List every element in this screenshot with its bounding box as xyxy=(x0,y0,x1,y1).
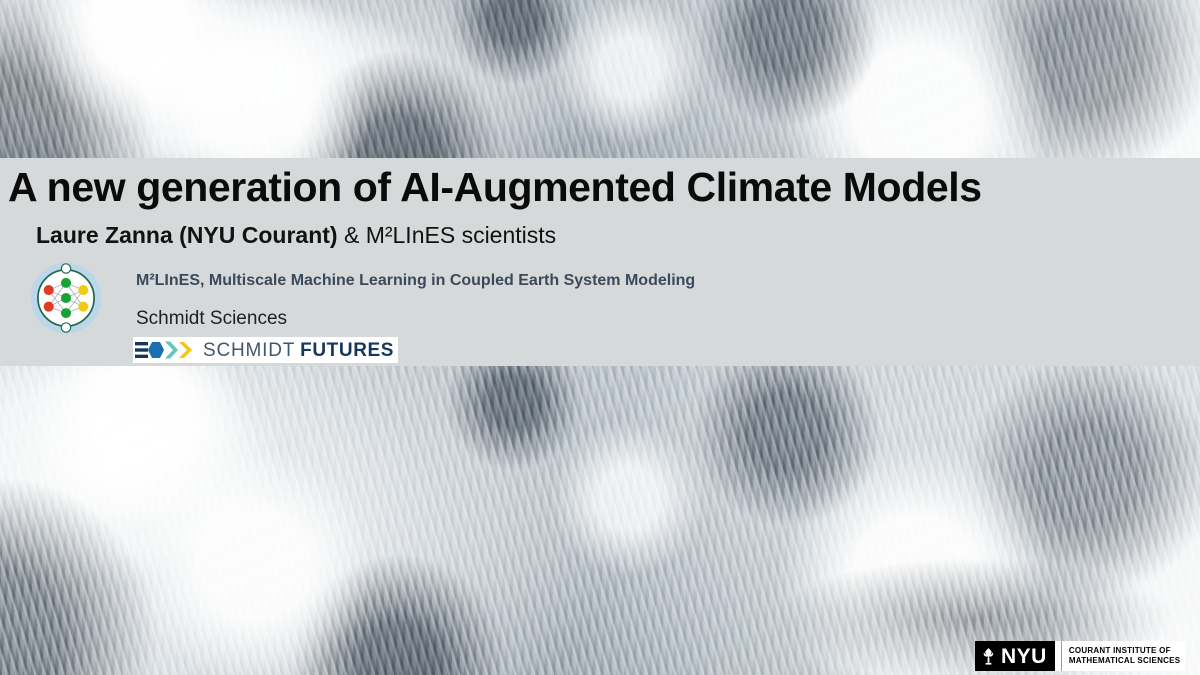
nyu-black-block: NYU xyxy=(975,641,1055,671)
slide-title: A new generation of AI-Augmented Climate… xyxy=(8,164,982,211)
institute-line-1: COURANT INSTITUTE OF xyxy=(1069,646,1180,656)
ice-sheet-region-top xyxy=(0,0,552,160)
schmidt-futures-light-word: SCHMIDT xyxy=(203,341,295,360)
schmidt-futures-mark xyxy=(135,339,197,361)
author-name: Laure Zanna (NYU Courant) xyxy=(36,222,338,248)
cloud-texture-bottom xyxy=(0,366,1200,675)
author-byline: Laure Zanna (NYU Courant) & M²LInES scie… xyxy=(36,222,556,249)
institute-line-2: MATHEMATICAL SCIENCES xyxy=(1069,656,1180,666)
ice-sheet-region-bottom xyxy=(0,366,312,641)
courant-institute-name: COURANT INSTITUTE OF MATHEMATICAL SCIENC… xyxy=(1061,641,1185,671)
satellite-image-bottom xyxy=(0,366,1200,675)
cloud-texture-top xyxy=(0,0,1200,160)
organization-line: M²LInES, Multiscale Machine Learning in … xyxy=(136,272,695,290)
m2lines-logo xyxy=(30,262,102,334)
nyu-wordmark: NYU xyxy=(1001,646,1047,667)
satellite-image-top xyxy=(0,0,1200,160)
presentation-slide: A new generation of AI-Augmented Climate… xyxy=(0,0,1200,675)
schmidt-futures-bold-word: FUTURES xyxy=(300,341,394,360)
schmidt-futures-logo: SCHMIDT FUTURES xyxy=(133,337,398,363)
nyu-courant-logo: NYU COURANT INSTITUTE OF MATHEMATICAL SC… xyxy=(975,641,1185,671)
funder-line: Schmidt Sciences xyxy=(136,308,287,330)
title-banner: A new generation of AI-Augmented Climate… xyxy=(0,158,1200,366)
author-collaborators: & M²LInES scientists xyxy=(338,222,557,248)
torch-icon xyxy=(981,647,996,666)
